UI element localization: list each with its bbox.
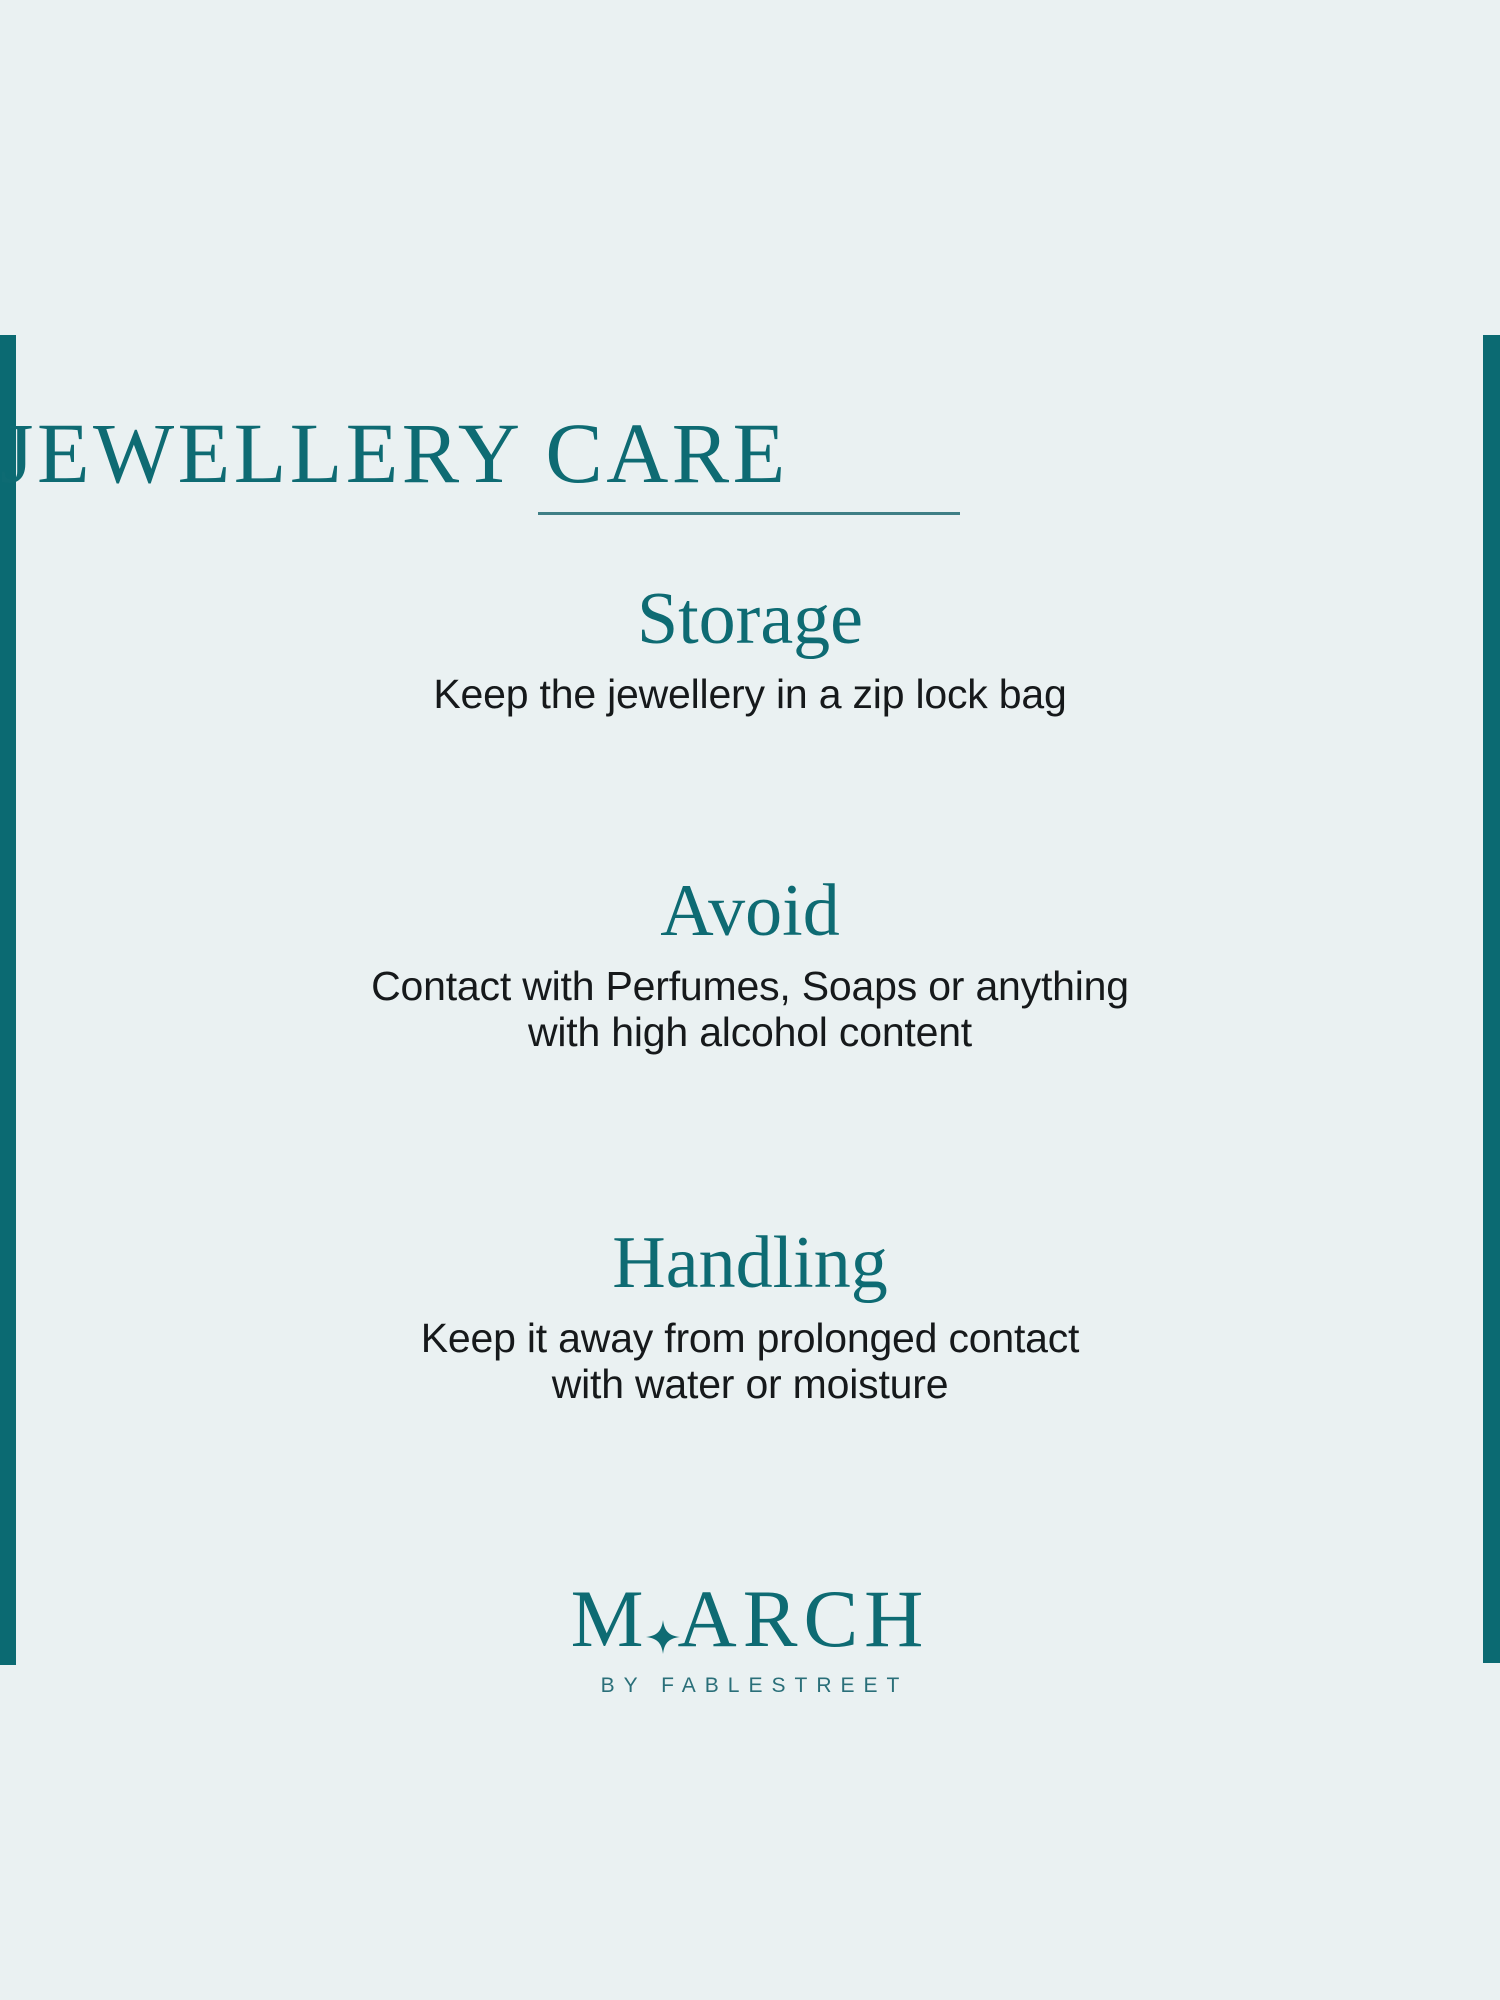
care-section-storage: Storage Keep the jewellery in a zip lock…: [0, 582, 1500, 718]
care-section-handling: Handling Keep it away from prolonged con…: [0, 1226, 1500, 1408]
section-body: Keep it away from prolonged contact with…: [0, 1316, 1500, 1408]
section-heading: Handling: [0, 1226, 1500, 1300]
brand-logo: M ARCH BY FABLESTREET: [0, 1578, 1500, 1698]
section-heading: Avoid: [0, 874, 1500, 948]
title-divider: [538, 512, 960, 515]
brand-wordmark: M ARCH: [571, 1578, 930, 1660]
section-body: Keep the jewellery in a zip lock bag: [0, 672, 1500, 718]
care-section-avoid: Avoid Contact with Perfumes, Soaps or an…: [0, 874, 1500, 1056]
jewellery-care-card: JEWELLERY CARE Storage Keep the jeweller…: [0, 0, 1500, 2000]
section-body: Contact with Perfumes, Soaps or anything…: [0, 964, 1500, 1056]
four-point-sparkle-icon: [646, 1620, 680, 1654]
section-heading: Storage: [0, 582, 1500, 656]
brand-wordmark-arch: ARCH: [678, 1578, 930, 1660]
page-title: JEWELLERY CARE: [0, 410, 1500, 498]
brand-wordmark-m: M: [571, 1578, 650, 1660]
brand-tagline: BY FABLESTREET: [0, 1674, 1500, 1698]
